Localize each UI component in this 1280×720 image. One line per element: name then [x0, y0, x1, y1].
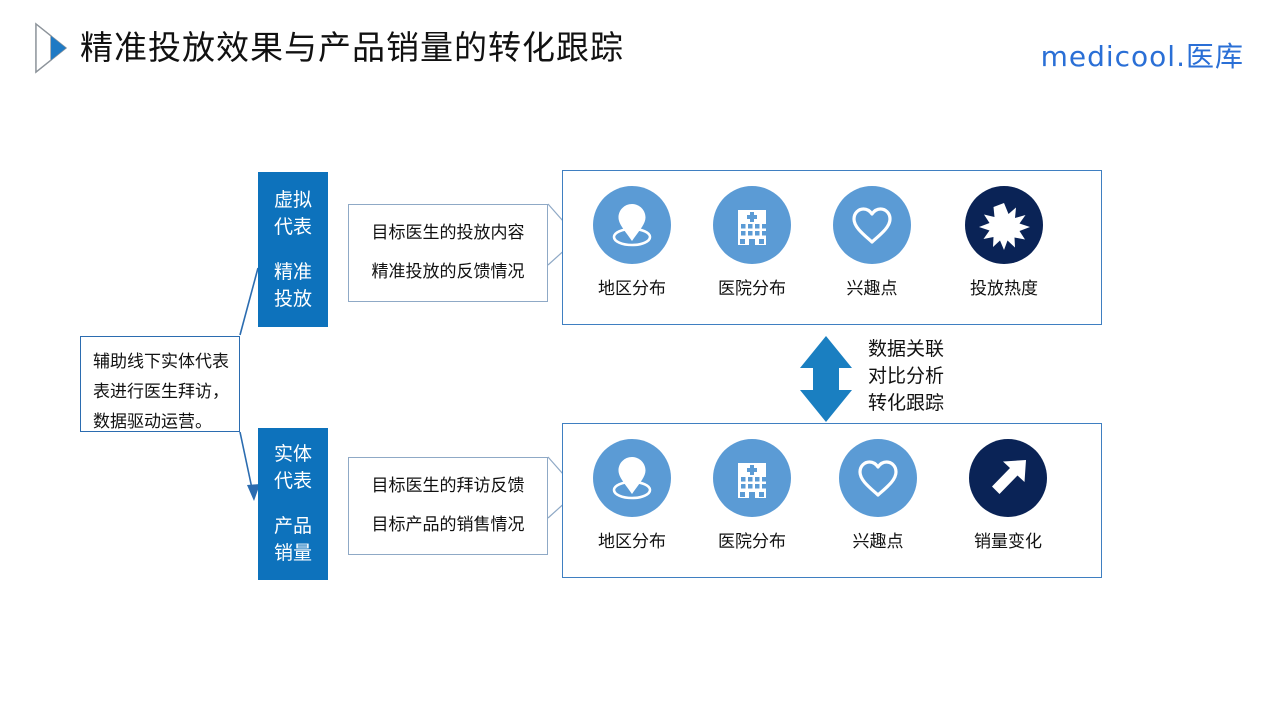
icon-caption: 投放热度: [939, 278, 1069, 300]
panel-virtual: 地区分布 医院分布: [562, 170, 1102, 325]
side-label-entity-line-2: 代表: [274, 468, 312, 495]
side-label-virtual-line-2: 代表: [274, 214, 312, 241]
middle-arrow-label: 数据关联 对比分析 转化跟踪: [868, 336, 944, 417]
arrow-up-right-icon: [969, 439, 1047, 517]
side-label-entity-line-4: 销量: [274, 540, 312, 567]
side-label-entity-line-1: 实体: [274, 441, 312, 468]
callout-entity-line-1: 目标医生的拜访反馈: [349, 475, 547, 497]
play-triangle-icon: [34, 22, 68, 74]
page-title: 精准投放效果与产品销量的转化跟踪: [80, 26, 624, 70]
icon-cell-entity-sales[interactable]: 销量变化: [943, 439, 1073, 553]
icon-cell-virtual-hospital[interactable]: 医院分布: [687, 186, 817, 300]
heart-outline-icon: [839, 439, 917, 517]
icon-caption: 医院分布: [687, 531, 817, 553]
icon-cell-entity-hospital[interactable]: 医院分布: [687, 439, 817, 553]
hospital-building-icon: [713, 439, 791, 517]
side-label-entity: 实体 代表 产品 销量: [258, 428, 328, 580]
brand-logo: medicool.医库: [1041, 40, 1244, 74]
icon-cell-virtual-heat[interactable]: 投放热度: [939, 186, 1069, 300]
panel-entity: 地区分布 医院分布: [562, 423, 1102, 578]
icon-cell-virtual-interest[interactable]: 兴趣点: [807, 186, 937, 300]
middle-arrow-line-1: 数据关联: [868, 336, 944, 363]
middle-arrow-line-2: 对比分析: [868, 363, 944, 390]
callout-virtual-line-1: 目标医生的投放内容: [349, 222, 547, 244]
icon-caption: 兴趣点: [807, 278, 937, 300]
middle-arrow-line-3: 转化跟踪: [868, 390, 944, 417]
left-note-box: 辅助线下实体代表 表进行医生拜访， 数据驱动运营。: [80, 336, 240, 432]
header-bar: 精准投放效果与产品销量的转化跟踪 medicool.医库: [0, 0, 1280, 95]
callout-virtual-line-2: 精准投放的反馈情况: [349, 261, 547, 283]
icon-cell-virtual-region[interactable]: 地区分布: [567, 186, 697, 300]
left-note-line-3: 数据驱动运营。: [93, 407, 227, 437]
side-label-virtual-line-1: 虚拟: [274, 187, 312, 214]
icon-caption: 兴趣点: [813, 531, 943, 553]
callout-entity-line-2: 目标产品的销售情况: [349, 514, 547, 536]
icon-caption: 销量变化: [943, 531, 1073, 553]
side-label-virtual-line-4: 投放: [274, 286, 312, 313]
connector-note-to-virtual: [240, 268, 258, 335]
callout-virtual: 目标医生的投放内容 精准投放的反馈情况: [348, 204, 548, 302]
connector-note-to-entity: [240, 432, 254, 498]
location-pin-person-icon: [593, 439, 671, 517]
side-label-virtual-line-3: 精准: [274, 259, 312, 286]
icon-caption: 地区分布: [567, 531, 697, 553]
side-label-virtual: 虚拟 代表 精准 投放: [258, 172, 328, 327]
double-arrow-vertical-icon: [800, 336, 852, 422]
hospital-building-icon: [713, 186, 791, 264]
icon-caption: 地区分布: [567, 278, 697, 300]
heart-outline-icon: [833, 186, 911, 264]
side-label-entity-line-3: 产品: [274, 513, 312, 540]
icon-cell-entity-region[interactable]: 地区分布: [567, 439, 697, 553]
left-note-line-1: 辅助线下实体代表: [93, 347, 227, 377]
starburst-icon: [965, 186, 1043, 264]
left-note-line-2: 表进行医生拜访，: [93, 377, 227, 407]
location-pin-person-icon: [593, 186, 671, 264]
icon-cell-entity-interest[interactable]: 兴趣点: [813, 439, 943, 553]
callout-entity: 目标医生的拜访反馈 目标产品的销售情况: [348, 457, 548, 555]
icon-caption: 医院分布: [687, 278, 817, 300]
